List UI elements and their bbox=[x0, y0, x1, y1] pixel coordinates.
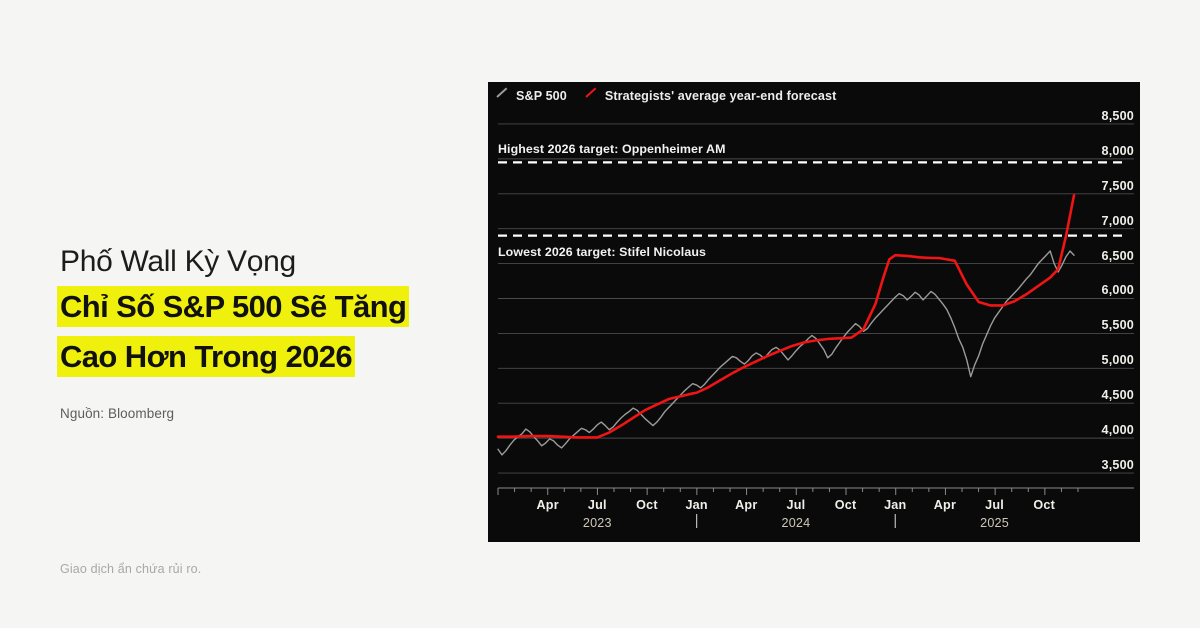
y-axis-label: 3,500 bbox=[1101, 458, 1134, 472]
headline-line-2-wrap: Chỉ Số S&P 500 Sẽ Tăng bbox=[60, 287, 480, 327]
x-axis-label: Apr bbox=[934, 498, 956, 512]
y-axis-label: 5,000 bbox=[1101, 353, 1134, 367]
headline-spacer bbox=[60, 328, 480, 337]
headline-line-2: Chỉ Số S&P 500 Sẽ Tăng bbox=[60, 289, 406, 324]
legend-label-sp500: S&P 500 bbox=[516, 89, 567, 103]
x-axis-year-label: 2024 bbox=[782, 516, 811, 530]
x-axis-label: Jan bbox=[685, 498, 707, 512]
legend-item-forecast[interactable]: Strategists' average year-end forecast bbox=[585, 89, 837, 103]
chart-panel: S&P 500 Strategists' average year-end fo… bbox=[488, 82, 1140, 542]
y-axis-label: 4,500 bbox=[1101, 388, 1134, 402]
y-axis-label: 5,500 bbox=[1101, 318, 1134, 332]
headline-line-3-wrap: Cao Hơn Trong 2026 bbox=[60, 337, 480, 377]
headline-line-3: Cao Hơn Trong 2026 bbox=[60, 339, 352, 374]
x-axis-label: Jan bbox=[884, 498, 906, 512]
y-axis-label: 4,000 bbox=[1101, 423, 1134, 437]
source-label: Nguồn: Bloomberg bbox=[60, 406, 174, 421]
x-axis-label: Oct bbox=[1033, 498, 1055, 512]
x-axis-label: Oct bbox=[835, 498, 857, 512]
reference-label-highest-target: Highest 2026 target: Oppenheimer AM bbox=[498, 142, 726, 156]
y-axis-label: 8,500 bbox=[1101, 109, 1134, 123]
y-axis-label: 8,000 bbox=[1101, 144, 1134, 158]
x-axis-year-label: 2023 bbox=[583, 516, 612, 530]
y-axis-label: 6,500 bbox=[1101, 249, 1134, 263]
headline-block: Phố Wall Kỳ Vọng Chỉ Số S&P 500 Sẽ Tăng … bbox=[60, 243, 480, 377]
gridlines-group bbox=[498, 124, 1134, 488]
y-axis-label: 6,000 bbox=[1101, 283, 1134, 297]
y-axis-label: 7,000 bbox=[1101, 214, 1134, 228]
slash-gray-icon bbox=[496, 90, 509, 103]
x-axis-label: Jul bbox=[588, 498, 607, 512]
slash-red-icon bbox=[585, 90, 598, 103]
x-axis-label: Jul bbox=[985, 498, 1004, 512]
x-axis-year-label: 2025 bbox=[980, 516, 1009, 530]
headline-line-1: Phố Wall Kỳ Vọng bbox=[60, 243, 480, 281]
x-axis-label: Apr bbox=[537, 498, 559, 512]
series-line-forecast bbox=[498, 195, 1074, 437]
disclaimer-label: Giao dịch ẩn chứa rủi ro. bbox=[60, 562, 201, 576]
left-content-panel: Phố Wall Kỳ Vọng Chỉ Số S&P 500 Sẽ Tăng … bbox=[0, 0, 488, 628]
x-axis-label: Jul bbox=[787, 498, 806, 512]
legend-label-forecast: Strategists' average year-end forecast bbox=[605, 89, 837, 103]
reference-lines-group bbox=[498, 162, 1128, 235]
chart-legend: S&P 500 Strategists' average year-end fo… bbox=[496, 89, 836, 103]
legend-item-sp500[interactable]: S&P 500 bbox=[496, 89, 567, 103]
x-axis-label: Apr bbox=[735, 498, 757, 512]
series-line-sp500 bbox=[498, 251, 1074, 455]
x-axis-label: Oct bbox=[636, 498, 658, 512]
y-axis-label: 7,500 bbox=[1101, 179, 1134, 193]
reference-label-lowest-target: Lowest 2026 target: Stifel Nicolaus bbox=[498, 245, 706, 259]
